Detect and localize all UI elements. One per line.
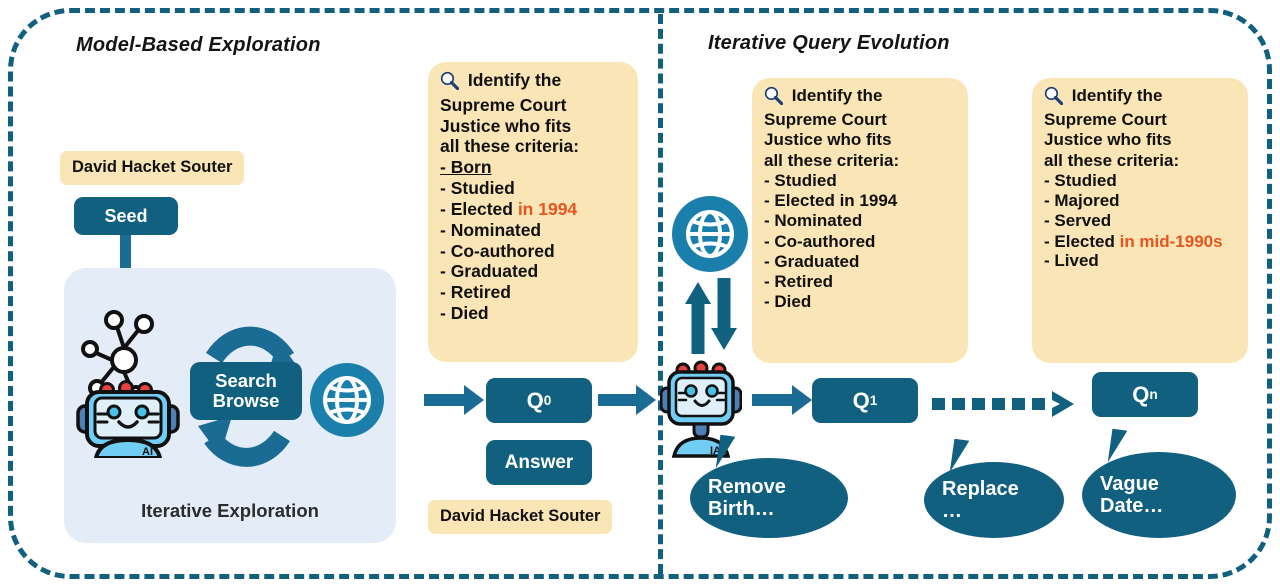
query-criterion: - Graduated	[764, 252, 958, 272]
q0-subscript: 0	[544, 393, 552, 408]
query-criterion: - Studied	[440, 178, 628, 199]
query-head-line: all these criteria:	[1044, 151, 1238, 171]
query-criterion: - Nominated	[764, 211, 958, 231]
q1-label: Q	[853, 388, 870, 414]
globe-icon	[672, 196, 748, 272]
up-down-arrows-icon	[682, 278, 740, 354]
answer-value-label: David Hacket Souter	[428, 500, 612, 534]
query-criterion: - Studied	[764, 171, 958, 191]
q0-label: Q	[527, 388, 544, 414]
query-criterion: - Majored	[1044, 191, 1238, 211]
bubble-text: Replace…	[942, 478, 1019, 523]
query-criterion: - Co-authored	[764, 232, 958, 252]
query-criterion: - Born	[440, 157, 628, 178]
flow-arrow-q0-to-agent	[598, 385, 658, 415]
query-head-line: Identify the	[1044, 86, 1238, 110]
seed-box: Seed	[74, 197, 178, 235]
answer-box: Answer	[486, 440, 592, 485]
query-criterion: - Served	[1044, 211, 1238, 231]
qn-box: Qn	[1092, 372, 1198, 417]
q0-box: Q0	[486, 378, 592, 423]
bubble-text: VagueDate…	[1100, 473, 1163, 518]
bubble-tail	[950, 439, 976, 476]
query-criterion: - Studied	[1044, 171, 1238, 191]
search-magnifier-icon	[1044, 86, 1063, 110]
search-magnifier-icon	[764, 86, 783, 110]
query-head-line: all these criteria:	[440, 136, 628, 157]
query-criterion-highlight: in mid-1990s	[1120, 232, 1223, 251]
svg-text:AI: AI	[142, 446, 153, 458]
search-magnifier-icon	[440, 71, 459, 95]
query-head-line: Identify the	[764, 86, 958, 110]
query-criterion: - Graduated	[440, 261, 628, 282]
query-head-line: Supreme Court	[440, 95, 628, 116]
bubble-tail	[1108, 429, 1134, 466]
query-criterion: - Died	[764, 292, 958, 312]
query-head-line: Justice who fits	[764, 130, 958, 150]
seed-entity-label: David Hacket Souter	[60, 151, 244, 185]
bubble-text: RemoveBirth…	[708, 476, 786, 521]
bubble-vague: VagueDate…	[1082, 452, 1236, 538]
query-head-line: Identify the	[440, 70, 628, 95]
bubble-remove: RemoveBirth…	[690, 458, 848, 538]
query-head-line: Justice who fits	[1044, 130, 1238, 150]
query-criterion-highlight: in 1994	[518, 199, 577, 219]
query-head-line: Supreme Court	[764, 110, 958, 130]
flow-arrow-explore-to-q0	[424, 385, 486, 415]
bubble-replace: Replace…	[924, 462, 1064, 538]
search-browse-box: Search Browse	[190, 362, 302, 420]
query-head-line: Supreme Court	[1044, 110, 1238, 130]
search-label: Search	[215, 371, 277, 391]
query-criterion: - Elected in 1994	[440, 199, 628, 220]
query-criterion: - Elected in mid-1990s	[1044, 232, 1238, 252]
dotted-arrow-icon	[932, 390, 1082, 418]
left-panel-title: Model-Based Exploration	[76, 34, 321, 57]
q1-box: Q1	[812, 378, 918, 423]
figure-canvas: Model-Based Exploration Iterative Query …	[0, 0, 1280, 587]
query-head-line: Justice who fits	[440, 116, 628, 137]
query-card-2: Identify theSupreme CourtJustice who fit…	[1032, 78, 1248, 363]
query-criterion: - Retired	[440, 282, 628, 303]
bubble-tail	[716, 435, 742, 472]
query-card-0: Identify theSupreme CourtJustice who fit…	[428, 62, 638, 362]
flow-arrow-agent-to-q1	[752, 385, 814, 415]
qn-subscript: n	[1149, 387, 1157, 402]
qn-label: Q	[1132, 382, 1149, 408]
query-card-1: Identify theSupreme CourtJustice who fit…	[752, 78, 968, 363]
query-criterion: - Lived	[1044, 251, 1238, 271]
right-panel-title: Iterative Query Evolution	[708, 32, 950, 55]
query-criterion: - Elected in 1994	[764, 191, 958, 211]
query-head-line: all these criteria:	[764, 151, 958, 171]
query-criterion: - Died	[440, 303, 628, 324]
query-criterion: - Retired	[764, 272, 958, 292]
browse-label: Browse	[213, 391, 280, 411]
panel-divider	[658, 14, 663, 574]
q1-subscript: 1	[870, 393, 878, 408]
ai-robot-icon: AI	[74, 298, 182, 458]
globe-icon	[310, 363, 384, 437]
query-criterion: - Co-authored	[440, 241, 628, 262]
query-criterion: - Nominated	[440, 220, 628, 241]
